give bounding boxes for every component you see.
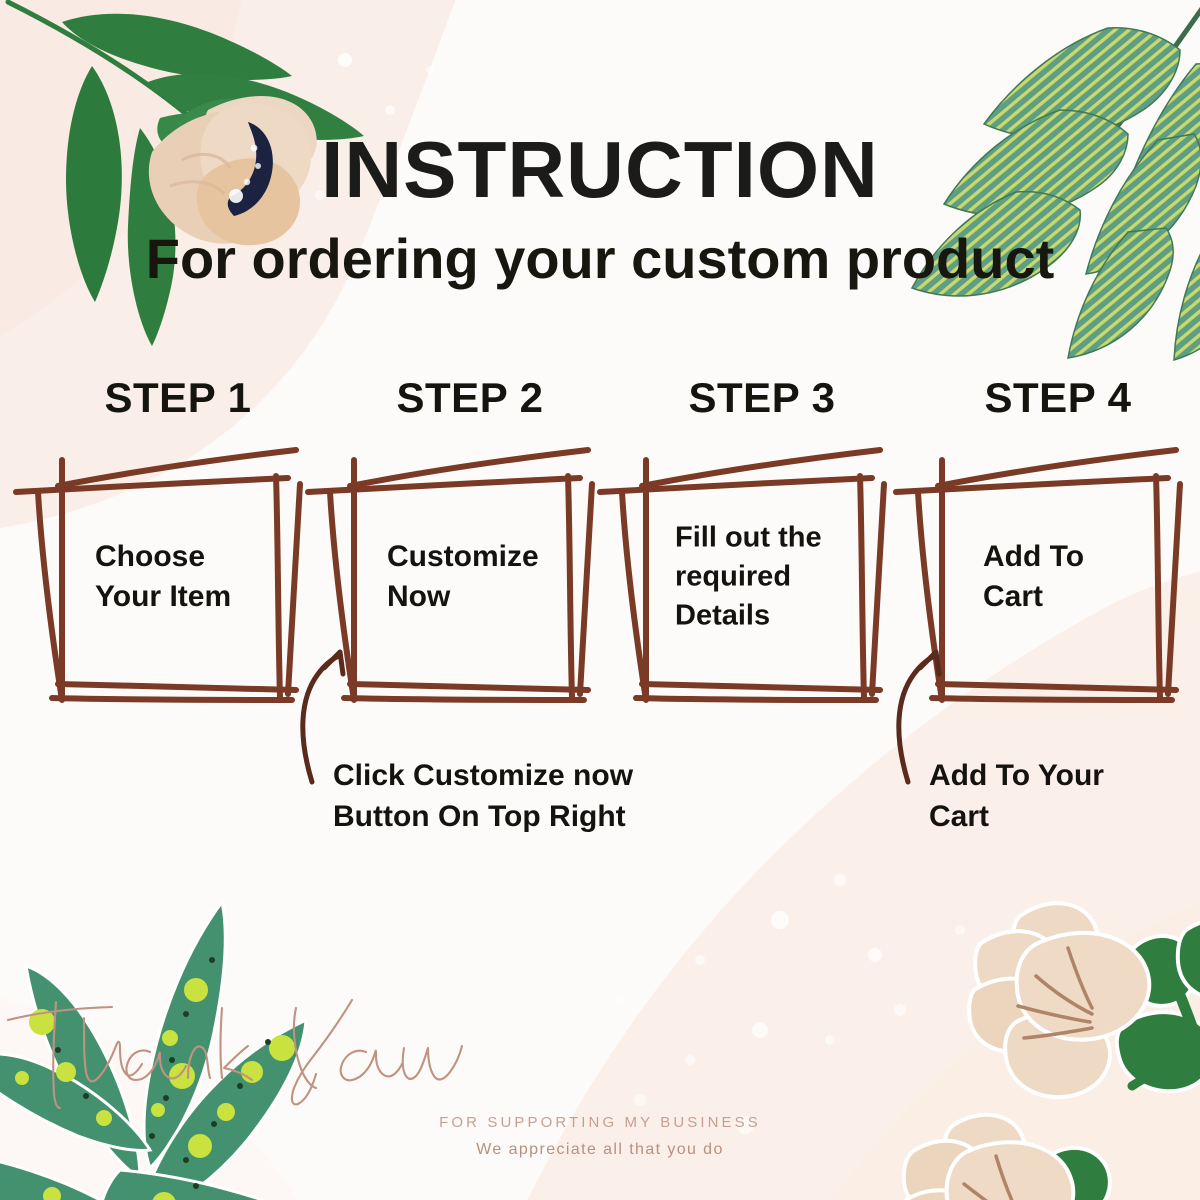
step-4-label: STEP 4 [913, 375, 1200, 421]
steps-row: STEP 1 Choose Your Item STEP 2 Customize… [0, 375, 1200, 715]
step-1-box: Choose Your Item [55, 461, 305, 693]
step-2-caption: Click Customize now Button On Top Right [333, 755, 763, 837]
thank-you-line2: We appreciate all that you do [0, 1141, 1200, 1159]
page-subtitle: For ordering your custom product [0, 228, 1200, 290]
step-4-box: Add To Cart [935, 461, 1185, 693]
step-3-label: STEP 3 [617, 375, 907, 421]
step-2-label: STEP 2 [325, 375, 615, 421]
step-2: STEP 2 Customize Now [325, 375, 615, 715]
step-1-label: STEP 1 [33, 375, 323, 421]
step-1-text: Choose Your Item [95, 537, 277, 617]
thank-you-line1: FOR SUPPORTING MY BUSINESS [0, 1114, 1200, 1131]
thank-you-block: FOR SUPPORTING MY BUSINESS We appreciate… [0, 990, 1200, 1159]
page-title: INSTRUCTION [0, 128, 1200, 212]
step-3-box: Fill out the required Details [639, 461, 889, 693]
step-2-text: Customize Now [387, 537, 569, 617]
step-2-box: Customize Now [347, 461, 597, 693]
instruction-card: INSTRUCTION For ordering your custom pro… [0, 0, 1200, 1200]
step-3-text: Fill out the required Details [675, 519, 861, 636]
step-3: STEP 3 Fill out the required Details [617, 375, 907, 715]
step-4: STEP 4 Add To Cart [913, 375, 1200, 715]
step-1: STEP 1 Choose Your Item [33, 375, 323, 715]
step-4-text: Add To Cart [983, 537, 1157, 617]
step-4-caption: Add To Your Cart [929, 755, 1189, 837]
thank-you-script [0, 990, 470, 1110]
